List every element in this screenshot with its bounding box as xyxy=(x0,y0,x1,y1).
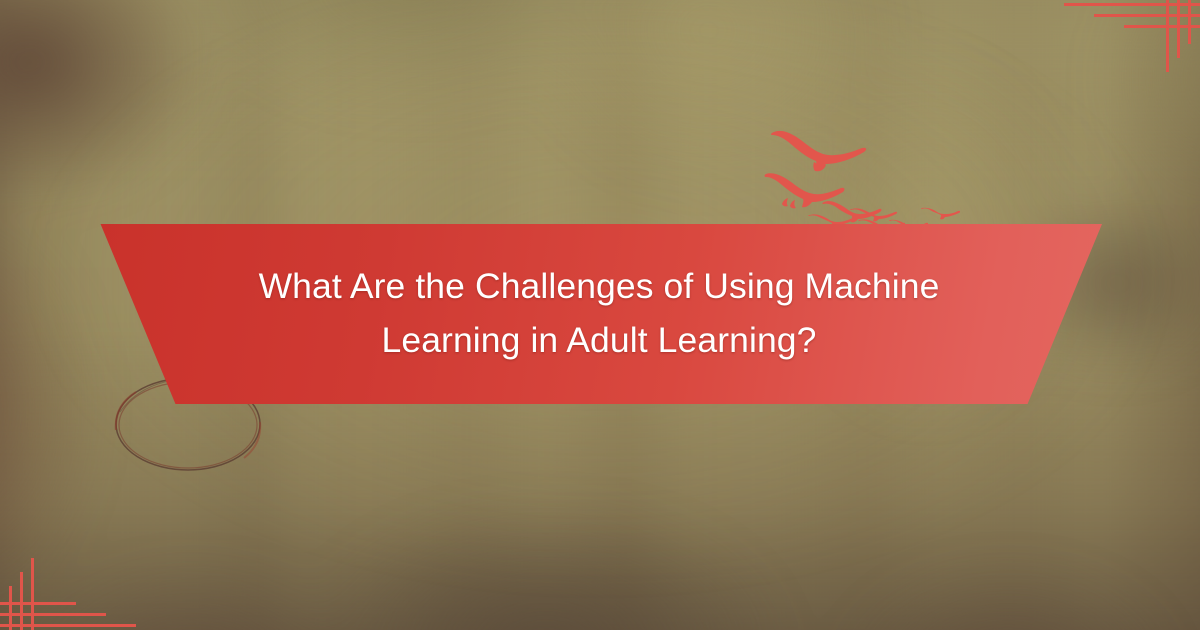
frame-line-vertical-5 xyxy=(20,572,23,630)
frame-line-vertical-2 xyxy=(1177,0,1180,58)
frame-line-vertical-4 xyxy=(31,558,34,630)
share-card-canvas: What Are the Challenges of Using Machine… xyxy=(0,0,1200,630)
frame-line-horizontal-5 xyxy=(0,613,106,616)
frame-line-vertical-1 xyxy=(1166,0,1169,72)
page-title: What Are the Challenges of Using Machine… xyxy=(219,259,979,369)
title-banner: What Are the Challenges of Using Machine… xyxy=(96,224,1102,404)
frame-line-vertical-6 xyxy=(9,586,12,630)
frame-line-vertical-3 xyxy=(1188,0,1191,44)
frame-line-horizontal-2 xyxy=(1094,14,1200,17)
